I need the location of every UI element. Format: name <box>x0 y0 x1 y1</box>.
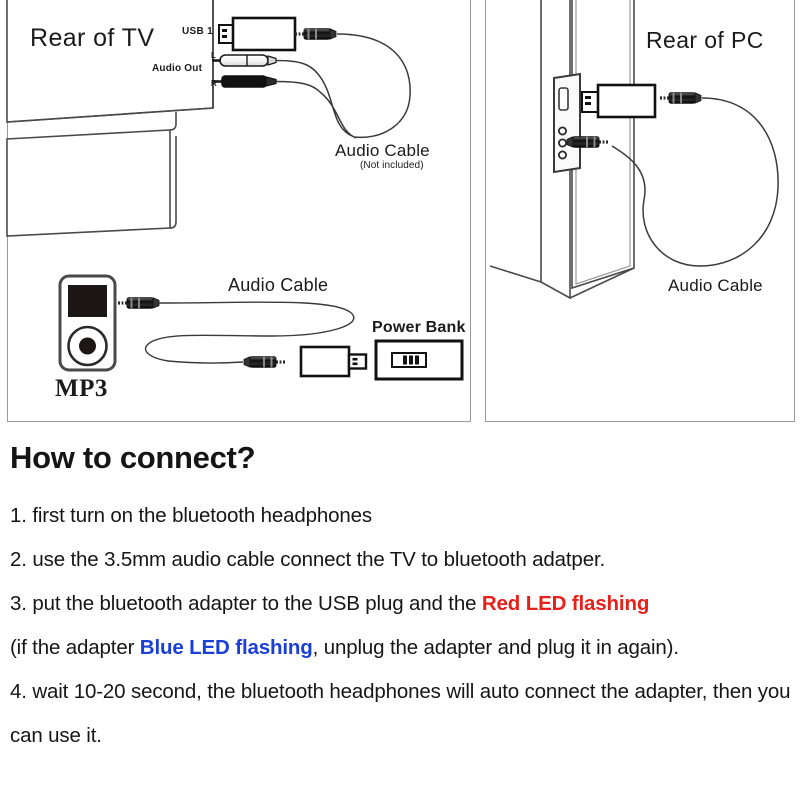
instruction-step-2: 2. use the 3.5mm audio cable connect the… <box>10 538 798 582</box>
diagram-artwork <box>0 0 800 425</box>
step-3-note-text-b: , unplug the adapter and plug it in agai… <box>313 636 679 659</box>
power-bank <box>376 341 462 379</box>
diagram-area: Rear of TV USB 1 Audio Out L R Audio Cab… <box>0 0 800 425</box>
power-bank-label: Power Bank <box>372 319 466 337</box>
rca-right-connector <box>212 76 276 87</box>
mp3-audio-cable-label: Audio Cable <box>228 275 328 296</box>
instruction-step-3-note: (if the adapter Blue LED flashing, unplu… <box>10 626 798 670</box>
tv-audio-cable-note: (Not included) <box>360 160 424 171</box>
step-3-note-text-a: (if the adapter <box>10 636 140 659</box>
instruction-step-4: 4. wait 10-20 second, the bluetooth head… <box>10 670 798 758</box>
tv-audio-out-label: Audio Out <box>152 63 202 74</box>
red-led-flashing-text: Red LED flashing <box>482 592 649 615</box>
tv-audio-cable-label: Audio Cable <box>335 141 430 161</box>
instruction-step-3: 3. put the bluetooth adapter to the USB … <box>10 582 798 626</box>
tv-right-channel-label: R <box>211 79 217 88</box>
tv-usb1-port-label: USB 1 <box>182 26 213 37</box>
instructions-list: 1. first turn on the bluetooth headphone… <box>10 494 798 758</box>
bluetooth-usb-adapter-tv <box>219 18 295 50</box>
rear-of-tv-label: Rear of TV <box>30 24 154 53</box>
pc-audio-cable-label: Audio Cable <box>668 276 763 296</box>
step-3-text-a: 3. put the bluetooth adapter to the USB … <box>10 592 482 615</box>
infographic-page: Rear of TV USB 1 Audio Out L R Audio Cab… <box>0 0 800 800</box>
tv-left-channel-label: L <box>211 51 216 60</box>
rca-left-connector <box>212 55 276 66</box>
mp3-device-label: MP3 <box>55 375 108 403</box>
rear-of-pc-label: Rear of PC <box>646 27 764 54</box>
instruction-step-1: 1. first turn on the bluetooth headphone… <box>10 494 798 538</box>
instructions-title: How to connect? <box>10 440 255 476</box>
blue-led-flashing-text: Blue LED flashing <box>140 636 313 659</box>
usb-adapter-powerbank <box>301 347 366 376</box>
